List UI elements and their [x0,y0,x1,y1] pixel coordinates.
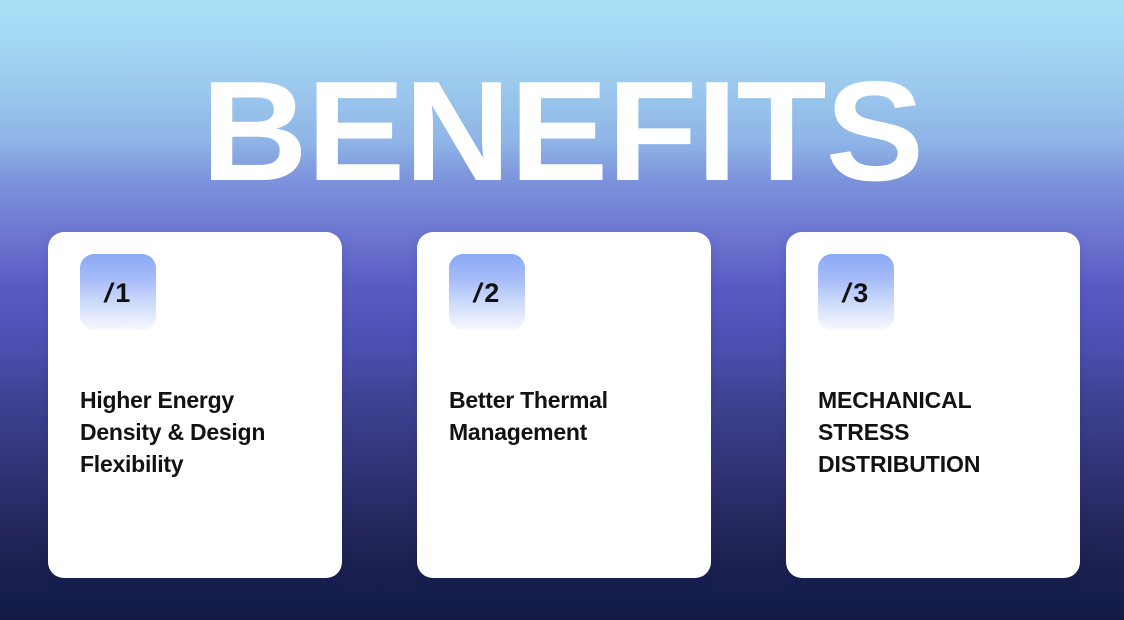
page-title-container: BENEFITS [0,66,1124,198]
benefit-number-badge-2: /2 [449,254,525,330]
benefits-slide: BENEFITS /1 Higher Energy Density & Desi… [0,0,1124,620]
page-title: BENEFITS [201,66,923,198]
benefit-number-badge-1: /1 [80,254,156,330]
benefit-card-1[interactable]: /1 Higher Energy Density & Design Flexib… [48,232,342,578]
benefit-card-2[interactable]: /2 Better Thermal Management [417,232,711,578]
benefit-card-3[interactable]: /3 MECHANICAL STRESS DISTRIBUTION [786,232,1080,578]
benefit-number-label-3: /3 [843,280,869,307]
benefit-number-label-1: /1 [105,280,131,307]
benefit-title-1: Higher Energy Density & Design Flexibili… [80,384,326,480]
benefit-title-2: Better Thermal Management [449,384,695,448]
benefit-number-label-2: /2 [474,280,500,307]
benefit-title-3: MECHANICAL STRESS DISTRIBUTION [818,384,1064,480]
benefits-card-list: /1 Higher Energy Density & Design Flexib… [48,232,1080,578]
benefit-number-badge-3: /3 [818,254,894,330]
